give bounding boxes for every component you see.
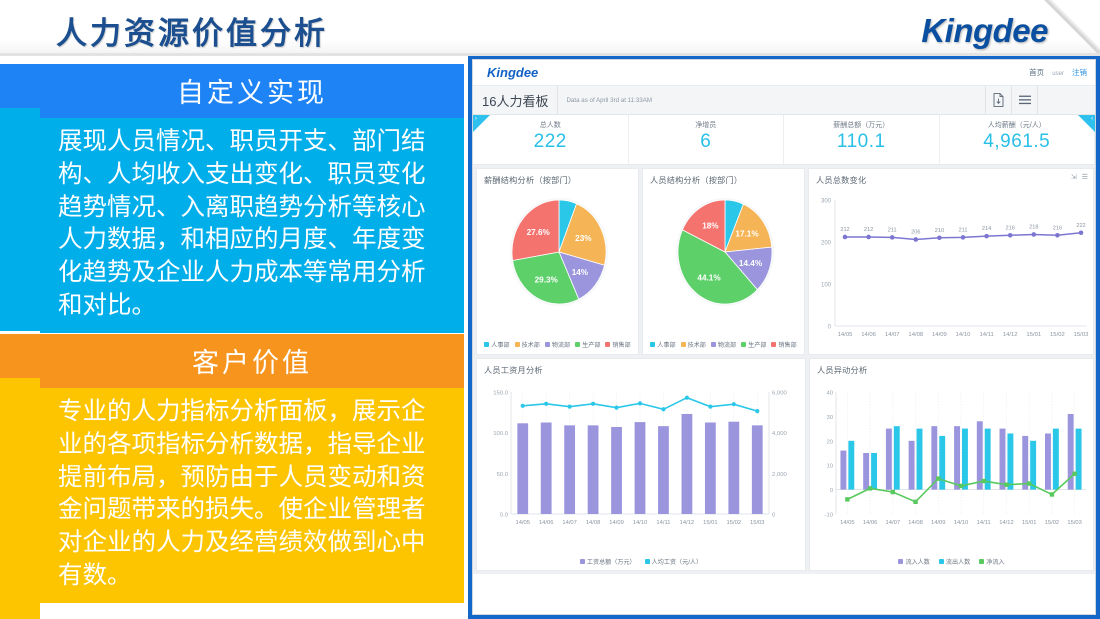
legend-item[interactable]: 人事部: [650, 340, 675, 349]
svg-text:218: 218: [1029, 224, 1038, 230]
chart-title: 人员结构分析（按部门）: [643, 169, 804, 186]
svg-text:15/03: 15/03: [750, 520, 765, 526]
kpi-average-salary[interactable]: 人均薪酬（元/人） 4,961.5: [940, 115, 1096, 164]
file-download-icon: [993, 93, 1004, 107]
legend-label: 人事部: [657, 340, 675, 349]
svg-text:14/08: 14/08: [908, 520, 923, 526]
orange-header-edge: [0, 334, 40, 378]
svg-text:211: 211: [888, 227, 897, 233]
legend-item[interactable]: 销售部: [771, 340, 796, 349]
svg-text:29.3%: 29.3%: [535, 276, 559, 285]
legend-swatch: [515, 342, 520, 347]
svg-text:14/09: 14/09: [931, 520, 946, 526]
legend-item[interactable]: 物流部: [711, 340, 736, 349]
svg-text:15/02: 15/02: [727, 520, 742, 526]
legend-item[interactable]: 技术部: [515, 340, 540, 349]
dashboard-screenshot-frame: Kingdee 首页 user 注销 16人力看板 Data as of Apr…: [468, 56, 1100, 619]
blue-body-edge: [0, 108, 40, 331]
legend-label: 人均工资（元/人）: [652, 557, 702, 566]
legend-label: 销售部: [778, 340, 796, 349]
svg-text:15/03: 15/03: [1067, 520, 1082, 526]
kpi-net-increase[interactable]: 净增员 6: [629, 115, 785, 164]
svg-text:212: 212: [840, 227, 849, 233]
svg-text:14/09: 14/09: [609, 520, 624, 526]
combo-chart-monthly-salary[interactable]: 0.050.0100.0150.002,0004,0006,00014/0514…: [477, 376, 807, 556]
charts-row-bottom: 人员工资月分析 0.050.0100.0150.002,0004,0006,00…: [476, 358, 1092, 571]
chart-title: 人员异动分析: [810, 359, 1093, 376]
charts-area: 薪酬结构分析（按部门） 23%14%29.3%27.6% 人事部技术部物流部生产…: [473, 165, 1095, 574]
legend-item[interactable]: 净流入: [979, 557, 1004, 566]
svg-text:0: 0: [830, 488, 834, 494]
expand-icon[interactable]: ⇲: [1071, 174, 1077, 181]
data-timestamp: Data as of April 3rd at 11:33AM: [558, 86, 985, 114]
svg-text:14/10: 14/10: [954, 520, 969, 526]
svg-text:0: 0: [828, 325, 832, 331]
page-title: 人力资源价值分析: [56, 8, 328, 53]
legend-label: 物流部: [718, 340, 736, 349]
chart-legend: 人事部技术部物流部生产部销售部: [477, 340, 638, 349]
legend-label: 流入人数: [905, 557, 929, 566]
legend-item[interactable]: 流入人数: [898, 557, 929, 566]
slide-header: 人力资源价值分析 Kingdee: [0, 0, 1100, 56]
card-monthly-salary: 人员工资月分析 0.050.0100.0150.002,0004,0006,00…: [476, 358, 806, 571]
svg-text:14%: 14%: [572, 268, 589, 277]
dashboard-logo: Kingdee: [487, 65, 538, 80]
svg-text:14/07: 14/07: [885, 332, 900, 338]
svg-text:15/01: 15/01: [703, 520, 718, 526]
dashboard-name[interactable]: 16人力看板: [473, 86, 558, 114]
chart-menu-icon[interactable]: ☰: [1082, 174, 1088, 181]
svg-text:15/02: 15/02: [1045, 520, 1060, 526]
svg-text:14/06: 14/06: [861, 332, 876, 338]
panel-body-text: 专业的人力指标分析面板，展示企业的各项指标分析数据，指导企业提前布局，预防由于人…: [40, 388, 464, 603]
legend-item[interactable]: 销售部: [605, 340, 630, 349]
panel-heading: 自定义实现: [40, 64, 464, 118]
svg-text:14/08: 14/08: [586, 520, 601, 526]
svg-text:222: 222: [1076, 223, 1085, 229]
panel-custom-implementation: 自定义实现 展现人员情况、职员开支、部门结构、人均收入支出变化、职员变化趋势情况…: [40, 64, 464, 333]
svg-text:14/10: 14/10: [633, 520, 648, 526]
legend-item[interactable]: 技术部: [681, 340, 706, 349]
legend-swatch: [650, 342, 655, 347]
legend-swatch: [711, 342, 716, 347]
svg-text:6,000: 6,000: [772, 391, 787, 397]
svg-text:211: 211: [959, 227, 968, 233]
kingdee-logo: Kingdee: [921, 12, 1048, 50]
svg-text:14/06: 14/06: [539, 520, 554, 526]
dashboard-topbar: Kingdee 首页 user 注销: [473, 60, 1095, 86]
svg-text:14/10: 14/10: [956, 332, 971, 338]
kpi-value: 6: [629, 131, 784, 153]
kpi-total-salary[interactable]: 薪酬总额（万元） 110.1: [784, 115, 940, 164]
kpi-value: 110.1: [784, 131, 939, 153]
card-headcount-movement: 人员异动分析 -1001020304014/0514/0614/0714/081…: [809, 358, 1094, 571]
legend-label: 技术部: [522, 340, 540, 349]
svg-text:2,000: 2,000: [772, 472, 787, 478]
legend-swatch: [681, 342, 686, 347]
export-button[interactable]: [985, 86, 1011, 114]
legend-label: 流出人数: [946, 557, 970, 566]
svg-text:30: 30: [826, 415, 833, 421]
legend-label: 生产部: [582, 340, 600, 349]
nav-username: user: [1052, 71, 1064, 77]
legend-label: 人事部: [491, 340, 509, 349]
legend-item[interactable]: 物流部: [545, 340, 570, 349]
kpi-label: 人均薪酬（元/人）: [940, 120, 1095, 130]
yellow-body-edge: [0, 378, 40, 619]
svg-text:14/05: 14/05: [840, 520, 855, 526]
nav-logout-link[interactable]: 注销: [1072, 68, 1087, 77]
svg-text:0: 0: [772, 513, 776, 519]
panel-customer-value: 客户价值 专业的人力指标分析面板，展示企业的各项指标分析数据，指导企业提前布局，…: [40, 334, 464, 603]
legend-label: 生产部: [748, 340, 766, 349]
legend-swatch: [898, 559, 903, 564]
svg-text:50.0: 50.0: [497, 472, 509, 478]
svg-text:216: 216: [1006, 225, 1015, 231]
page-curl-decoration: [1044, 0, 1100, 56]
panel-heading: 客户价值: [40, 334, 464, 388]
svg-text:44.1%: 44.1%: [697, 273, 721, 282]
svg-text:216: 216: [1053, 225, 1062, 231]
kpi-value: 222: [473, 131, 628, 153]
dashboard: Kingdee 首页 user 注销 16人力看板 Data as of Apr…: [472, 59, 1096, 615]
chevron-right-icon: ‹: [1091, 116, 1093, 122]
svg-text:40: 40: [826, 391, 833, 397]
combo-chart-headcount-movement[interactable]: -1001020304014/0514/0614/0714/0814/0914/…: [810, 376, 1095, 556]
legend-label: 净流入: [986, 557, 1004, 566]
legend-label: 技术部: [688, 340, 706, 349]
line-chart-headcount-trend[interactable]: 0100200300212212211206210211214216218216…: [809, 186, 1095, 354]
svg-text:15/01: 15/01: [1026, 332, 1041, 338]
chart-legend: 流入人数流出人数净流入: [810, 557, 1093, 566]
blue-header-edge: [0, 64, 40, 108]
svg-text:150.0: 150.0: [493, 391, 508, 397]
legend-item[interactable]: 人均工资（元/人）: [645, 557, 702, 566]
legend-label: 工资总额（万元）: [587, 557, 636, 566]
svg-text:14/07: 14/07: [562, 520, 577, 526]
legend-label: 物流部: [552, 340, 570, 349]
svg-text:214: 214: [982, 226, 991, 232]
dashboard-titlebar: 16人力看板 Data as of April 3rd at 11:33AM: [473, 86, 1095, 115]
card-headcount-structure: 人员结构分析（按部门） 17.1%14.4%44.1%18% 人事部技术部物流部…: [642, 168, 805, 355]
kpi-label: 总人数: [473, 120, 628, 130]
chart-legend: 人事部技术部物流部生产部销售部: [643, 340, 804, 349]
legend-item[interactable]: 流出人数: [939, 557, 970, 566]
svg-text:210: 210: [935, 228, 944, 234]
svg-text:14/11: 14/11: [979, 332, 993, 338]
card-action-icons: ⇲ ☰: [1068, 173, 1088, 181]
svg-text:27.6%: 27.6%: [527, 228, 551, 237]
chart-title: 人员总数变化: [809, 169, 1093, 186]
svg-text:15/02: 15/02: [1050, 332, 1065, 338]
legend-swatch: [939, 559, 944, 564]
chart-legend: 工资总额（万元）人均工资（元/人）: [477, 557, 805, 566]
svg-text:18%: 18%: [702, 222, 719, 231]
svg-text:23%: 23%: [575, 234, 592, 243]
chart-title: 人员工资月分析: [477, 359, 805, 376]
svg-text:100.0: 100.0: [493, 431, 508, 437]
svg-text:14/08: 14/08: [908, 332, 923, 338]
charts-row-top: 薪酬结构分析（按部门） 23%14%29.3%27.6% 人事部技术部物流部生产…: [476, 168, 1092, 355]
legend-swatch: [771, 342, 776, 347]
svg-text:20: 20: [826, 439, 833, 445]
svg-text:300: 300: [821, 199, 832, 205]
legend-label: 销售部: [612, 340, 630, 349]
menu-button[interactable]: [1011, 86, 1037, 114]
svg-text:14/09: 14/09: [932, 332, 947, 338]
kpi-label: 薪酬总额（万元）: [784, 120, 939, 130]
svg-text:100: 100: [821, 283, 832, 289]
titlebar-filler: [1037, 86, 1095, 114]
kpi-total-headcount[interactable]: 总人数 222: [473, 115, 629, 164]
svg-text:200: 200: [821, 241, 832, 247]
svg-text:14/12: 14/12: [1003, 332, 1018, 338]
legend-item[interactable]: 人事部: [484, 340, 509, 349]
svg-text:17.1%: 17.1%: [735, 230, 759, 239]
svg-text:14/07: 14/07: [886, 520, 901, 526]
legend-swatch: [484, 342, 489, 347]
svg-text:14/06: 14/06: [863, 520, 878, 526]
legend-swatch: [605, 342, 610, 347]
legend-item[interactable]: 生产部: [741, 340, 766, 349]
svg-text:14.4%: 14.4%: [739, 259, 763, 268]
legend-swatch: [979, 559, 984, 564]
legend-swatch: [645, 559, 650, 564]
card-headcount-trend: 人员总数变化 ⇲ ☰ 01002003002122122112062102112…: [808, 168, 1094, 355]
svg-text:212: 212: [864, 227, 873, 233]
svg-text:14/12: 14/12: [999, 520, 1014, 526]
svg-text:4,000: 4,000: [772, 431, 787, 437]
hamburger-menu-icon: [1019, 95, 1031, 105]
svg-text:14/12: 14/12: [680, 520, 695, 526]
legend-swatch: [575, 342, 580, 347]
svg-text:-10: -10: [824, 513, 833, 519]
left-content-column: 自定义实现 展现人员情况、职员开支、部门结构、人均收入支出变化、职员变化趋势情况…: [0, 56, 468, 619]
dashboard-nav: 首页 user 注销: [1023, 67, 1087, 78]
pie-chart-headcount-structure[interactable]: 17.1%14.4%44.1%18%: [643, 186, 806, 321]
svg-text:10: 10: [826, 464, 833, 470]
kpi-value: 4,961.5: [940, 131, 1095, 153]
nav-home-link[interactable]: 首页: [1029, 68, 1044, 77]
panel-body-text: 展现人员情况、职员开支、部门结构、人均收入支出变化、职员变化趋势情况、入离职趋势…: [40, 118, 464, 333]
pie-chart-salary-structure[interactable]: 23%14%29.3%27.6%: [477, 186, 640, 321]
svg-text:14/11: 14/11: [977, 520, 991, 526]
legend-swatch: [545, 342, 550, 347]
svg-text:15/03: 15/03: [1074, 332, 1089, 338]
svg-text:15/01: 15/01: [1022, 520, 1037, 526]
legend-item[interactable]: 工资总额（万元）: [580, 557, 636, 566]
kpi-row: › 总人数 222 净增员 6 薪酬总额（万元） 110.1 人均薪酬（元/人）…: [473, 115, 1095, 165]
kpi-label: 净增员: [629, 120, 784, 130]
svg-text:0.0: 0.0: [500, 513, 509, 519]
legend-swatch: [741, 342, 746, 347]
svg-text:206: 206: [911, 229, 920, 235]
legend-swatch: [580, 559, 585, 564]
legend-item[interactable]: 生产部: [575, 340, 600, 349]
svg-text:14/05: 14/05: [515, 520, 530, 526]
card-salary-structure: 薪酬结构分析（按部门） 23%14%29.3%27.6% 人事部技术部物流部生产…: [476, 168, 639, 355]
chart-title: 薪酬结构分析（按部门）: [477, 169, 638, 186]
svg-text:14/05: 14/05: [838, 332, 853, 338]
svg-text:14/11: 14/11: [656, 520, 670, 526]
